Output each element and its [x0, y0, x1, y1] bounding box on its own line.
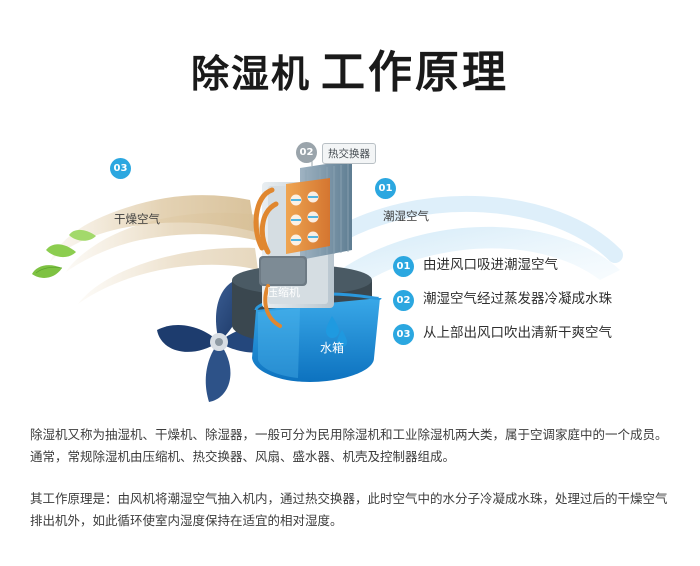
label-compressor: 压缩机	[267, 284, 300, 300]
page-title-part1: 除湿机	[191, 52, 311, 96]
paragraph-2-line-1: 其工作原理是：由风机将潮湿空气抽入机内，通过热交换器，此时空气中的水分子冷凝成水…	[30, 488, 670, 510]
paragraph-1-line-1: 除湿机又称为抽湿机、干燥机、除湿器，一般可分为民用除湿机和工业除湿机两大类，属于…	[30, 424, 670, 446]
paragraph-2-line-2: 排出机外，如此循环使室内湿度保持在适宜的相对湿度。	[30, 510, 670, 532]
description-paragraph-1: 除湿机又称为抽湿机、干燥机、除湿器，一般可分为民用除湿机和工业除湿机两大类，属于…	[30, 424, 670, 468]
page-title: 除湿机工作原理	[0, 36, 700, 100]
label-heat-exchanger: 热交换器	[322, 143, 376, 164]
step-item-2: 02 潮湿空气经过蒸发器冷凝成水珠	[393, 288, 693, 322]
badge-02-heat-exchanger: 02	[296, 142, 317, 163]
step-item-3: 03 从上部出风口吹出清新干爽空气	[393, 322, 693, 356]
badge-01-humid-air: 01	[375, 178, 396, 199]
step-item-1: 01 由进风口吸进潮湿空气	[393, 254, 693, 288]
step-badge-03: 03	[393, 324, 414, 345]
steps-list: 01 由进风口吸进潮湿空气 02 潮湿空气经过蒸发器冷凝成水珠 03 从上部出风…	[393, 254, 693, 356]
paragraph-1-line-2: 通常，常规除湿机由压缩机、热交换器、风扇、盛水器、机壳及控制器组成。	[30, 446, 670, 468]
badge-03-dry-air: 03	[110, 158, 131, 179]
step-badge-02: 02	[393, 290, 414, 311]
label-dry-air: 干燥空气	[114, 211, 160, 227]
label-humid-air: 潮湿空气	[383, 208, 429, 224]
step-text-01: 由进风口吸进潮湿空气	[423, 256, 558, 275]
step-badge-01: 01	[393, 256, 414, 277]
step-text-03: 从上部出风口吹出清新干爽空气	[423, 324, 612, 343]
page-title-part2: 工作原理	[321, 47, 509, 98]
description-paragraph-2: 其工作原理是：由风机将潮湿空气抽入机内，通过热交换器，此时空气中的水分子冷凝成水…	[30, 488, 670, 532]
page-root: 除湿机工作原理	[0, 0, 700, 566]
label-water-tank: 水箱	[320, 339, 344, 356]
step-text-02: 潮湿空气经过蒸发器冷凝成水珠	[423, 290, 612, 309]
